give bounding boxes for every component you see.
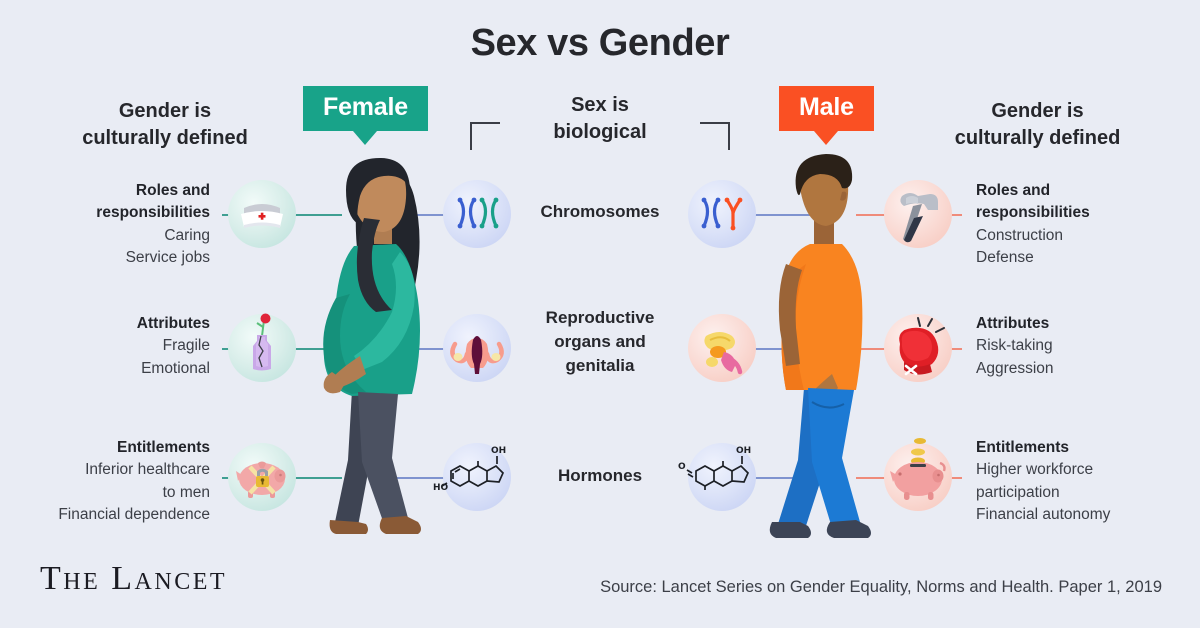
right-block-roles-item-0: Construction <box>976 225 1186 247</box>
right-block-entitlements-item-2: Financial autonomy <box>976 504 1191 526</box>
middle-header-line1: Sex is <box>505 92 695 119</box>
estrogen-molecule-icon: HO OH <box>443 443 511 511</box>
right-block-entitlements-heading: Entitlements <box>976 437 1191 459</box>
piggy-bank-coins-icon <box>884 443 952 511</box>
right-block-roles-item-1: Defense <box>976 247 1186 269</box>
uterus-icon <box>443 314 511 382</box>
center-label-reproductive-line1: Reproductive <box>506 306 694 330</box>
left-block-roles: Roles and responsibilities Caring Servic… <box>20 180 210 270</box>
center-label-reproductive: Reproductive organs and genitalia <box>506 306 694 377</box>
testosterone-oh-label: OH <box>736 446 751 456</box>
left-header-line2: culturally defined <box>40 125 290 152</box>
center-label-reproductive-line3: genitalia <box>506 354 694 378</box>
hammer-icon <box>884 180 952 248</box>
left-block-entitlements-item-0: Inferior healthcare <box>10 459 210 481</box>
male-reproductive-organs-icon <box>688 314 756 382</box>
right-block-roles-heading: Roles and <box>976 180 1186 202</box>
cracked-vase-rose-icon <box>228 314 296 382</box>
middle-column-header: Sex is biological <box>505 92 695 146</box>
right-block-attributes-heading: Attributes <box>976 313 1186 335</box>
right-block-roles-heading2: responsibilities <box>976 202 1186 224</box>
source-credit: Source: Lancet Series on Gender Equality… <box>600 578 1162 597</box>
estrogen-ho-label: HO <box>433 483 449 493</box>
center-label-reproductive-line2: organs and <box>506 330 694 354</box>
right-block-attributes-item-0: Risk-taking <box>976 335 1186 357</box>
left-block-attributes-item-0: Fragile <box>20 335 210 357</box>
center-label-chromosomes: Chromosomes <box>506 202 694 222</box>
left-block-entitlements-heading: Entitlements <box>10 437 210 459</box>
right-block-attributes: Attributes Risk-taking Aggression <box>976 313 1186 380</box>
left-header-line1: Gender is <box>40 98 290 125</box>
left-block-attributes-item-1: Emotional <box>20 358 210 380</box>
chromosomes-xx-icon <box>443 180 511 248</box>
left-block-roles-heading: Roles and <box>20 180 210 202</box>
right-block-attributes-item-1: Aggression <box>976 358 1186 380</box>
left-block-attributes-heading: Attributes <box>20 313 210 335</box>
infographic-canvas: Sex vs Gender Gender is culturally defin… <box>0 0 1200 628</box>
male-label-text: Male <box>779 86 874 131</box>
right-block-roles: Roles and responsibilities Construction … <box>976 180 1186 270</box>
nurse-cap-icon <box>228 180 296 248</box>
left-block-roles-item-0: Caring <box>20 225 210 247</box>
lancet-logo: The Lancet <box>40 560 227 598</box>
female-label-text: Female <box>303 86 428 131</box>
left-block-entitlements-item-2: Financial dependence <box>10 504 210 526</box>
estrogen-oh-label: OH <box>491 446 506 456</box>
left-block-entitlements-item-1: to men <box>10 482 210 504</box>
left-block-attributes: Attributes Fragile Emotional <box>20 313 210 380</box>
right-block-entitlements: Entitlements Higher workforce participat… <box>976 437 1191 527</box>
left-column-header: Gender is culturally defined <box>40 98 290 152</box>
male-label-badge: Male <box>779 86 874 145</box>
locked-piggy-bank-icon <box>228 443 296 511</box>
chromosomes-xy-icon <box>688 180 756 248</box>
testosterone-molecule-icon: O OH <box>688 443 756 511</box>
right-column-header: Gender is culturally defined <box>910 98 1165 152</box>
center-label-hormones: Hormones <box>506 466 694 486</box>
boxing-glove-icon <box>884 314 952 382</box>
left-block-roles-heading2: responsibilities <box>20 202 210 224</box>
middle-header-line2: biological <box>505 119 695 146</box>
right-header-line2: culturally defined <box>910 125 1165 152</box>
page-title: Sex vs Gender <box>0 22 1200 65</box>
left-block-roles-item-1: Service jobs <box>20 247 210 269</box>
right-block-entitlements-item-1: participation <box>976 482 1191 504</box>
female-label-badge: Female <box>303 86 428 145</box>
left-block-entitlements: Entitlements Inferior healthcare to men … <box>10 437 210 527</box>
right-block-entitlements-item-0: Higher workforce <box>976 459 1191 481</box>
right-header-line1: Gender is <box>910 98 1165 125</box>
testosterone-o-label: O <box>678 462 686 472</box>
